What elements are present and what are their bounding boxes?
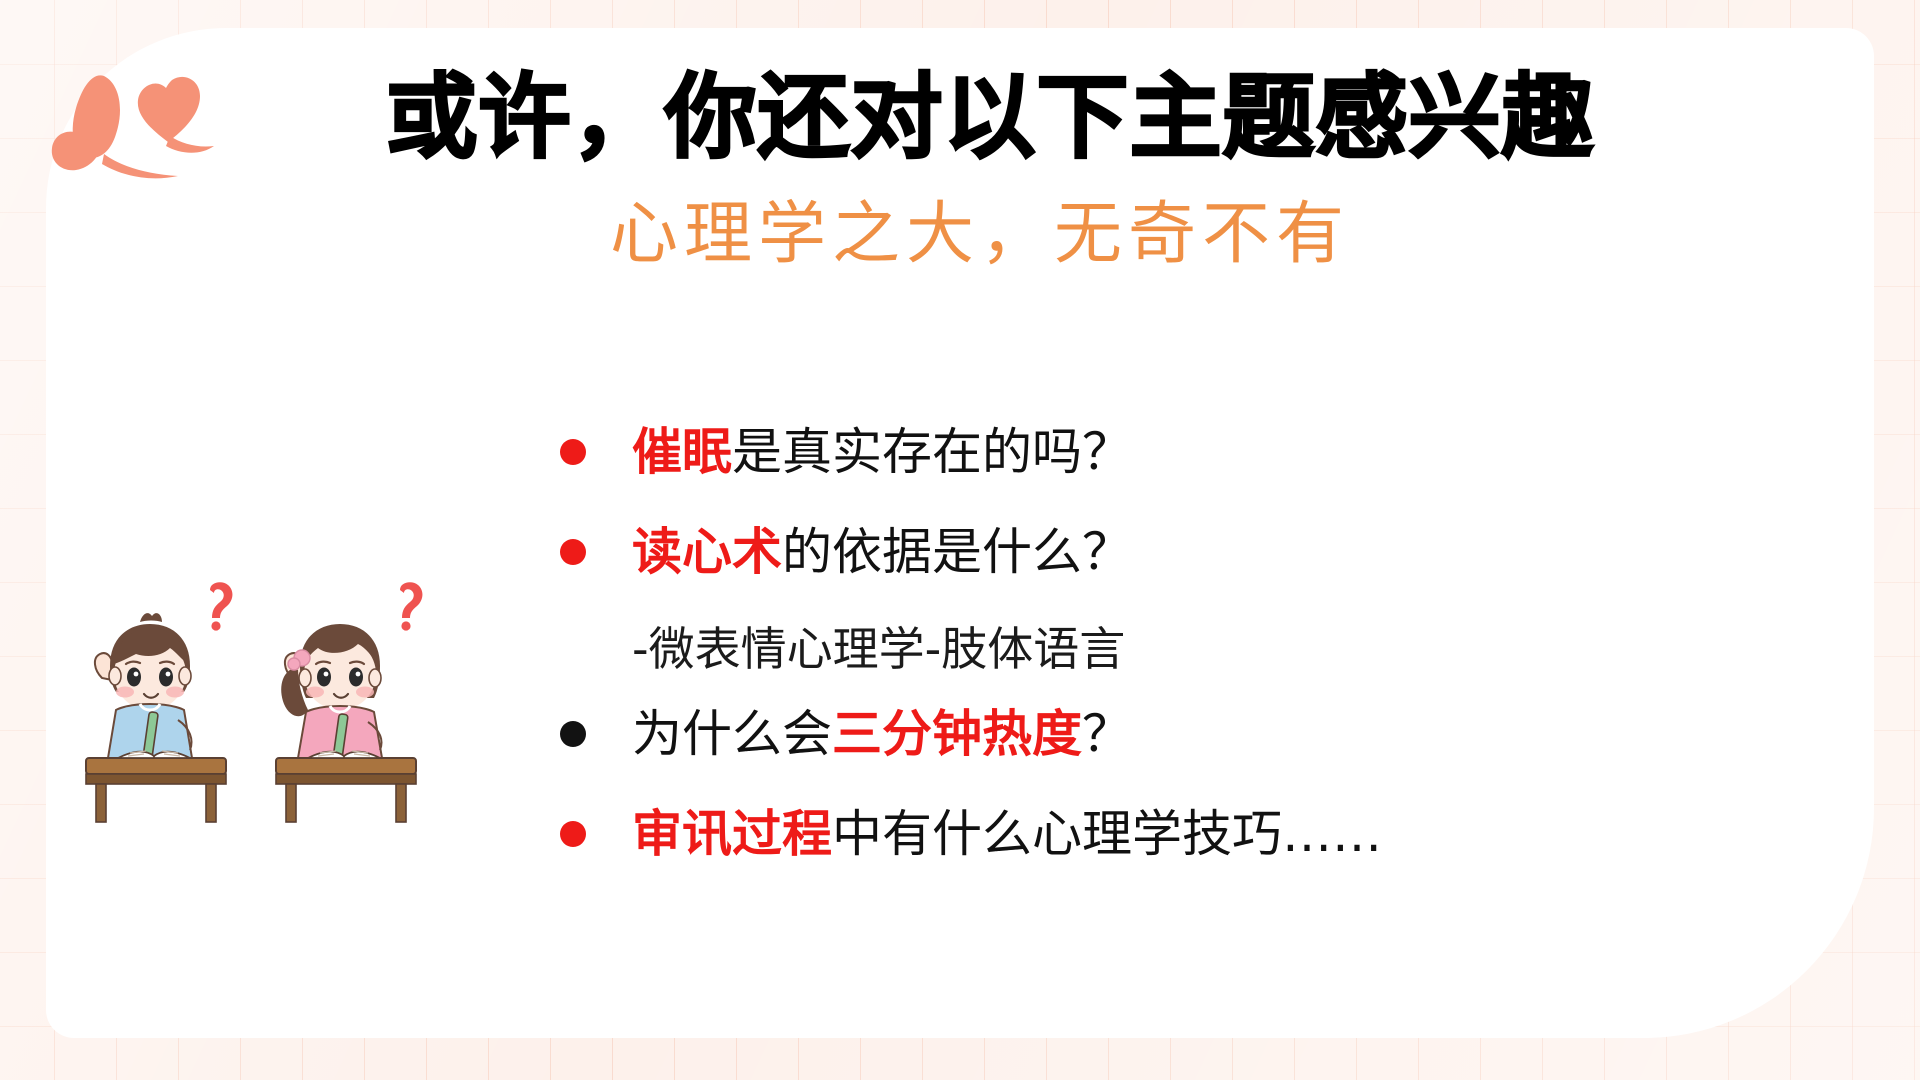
list-item-text: 催眠是真实存在的吗？	[632, 422, 1132, 483]
bullet-dot-icon	[560, 821, 586, 847]
slide-canvas: 或许，你还对以下主题感兴趣 心理学之大，无奇不有 催眠是真实存在的吗？ 读心术的…	[0, 0, 1920, 1080]
page-title: 或许，你还对以下主题感兴趣	[0, 68, 1920, 167]
list-item: 审讯过程中有什么心理学技巧……	[560, 792, 1740, 876]
topic-list: 催眠是真实存在的吗？ 读心术的依据是什么？ -微表情心理学-肢体语言 为什么会三…	[560, 410, 1740, 892]
question-mark-icon	[400, 582, 422, 630]
bullet-dot-icon	[560, 721, 586, 747]
bullet-dot-icon	[560, 539, 586, 565]
list-item-highlight: 三分钟热度	[832, 705, 1082, 763]
question-mark-icon	[210, 582, 232, 630]
list-item: 读心术的依据是什么？	[560, 510, 1740, 594]
list-item-rest: 的依据是什么？	[782, 523, 1132, 581]
list-item-rest: 是真实存在的吗？	[732, 423, 1132, 481]
list-item-highlight: 读心术	[632, 523, 782, 581]
boy-figure	[86, 582, 232, 822]
list-item-text: 读心术的依据是什么？	[632, 522, 1132, 583]
list-item-text: 审讯过程中有什么心理学技巧……	[632, 804, 1382, 865]
two-students-illustration	[78, 582, 478, 832]
list-item-rest: 中有什么心理学技巧……	[832, 805, 1382, 863]
bullet-dot-icon	[560, 439, 586, 465]
list-item-highlight: 审讯过程	[632, 805, 832, 863]
list-item-text: 为什么会三分钟热度？	[632, 704, 1132, 765]
list-item: 为什么会三分钟热度？	[560, 692, 1740, 776]
list-item-highlight: 催眠	[632, 423, 732, 481]
page-subtitle: 心理学之大，无奇不有	[0, 196, 1920, 274]
sub-note-text: -微表情心理学-肢体语言	[632, 613, 1125, 679]
sub-note-row: -微表情心理学-肢体语言	[560, 610, 1740, 682]
girl-figure	[276, 582, 422, 822]
list-item-lead: 为什么会	[632, 705, 832, 763]
list-item-rest: ？	[1082, 705, 1132, 763]
list-item: 催眠是真实存在的吗？	[560, 410, 1740, 494]
